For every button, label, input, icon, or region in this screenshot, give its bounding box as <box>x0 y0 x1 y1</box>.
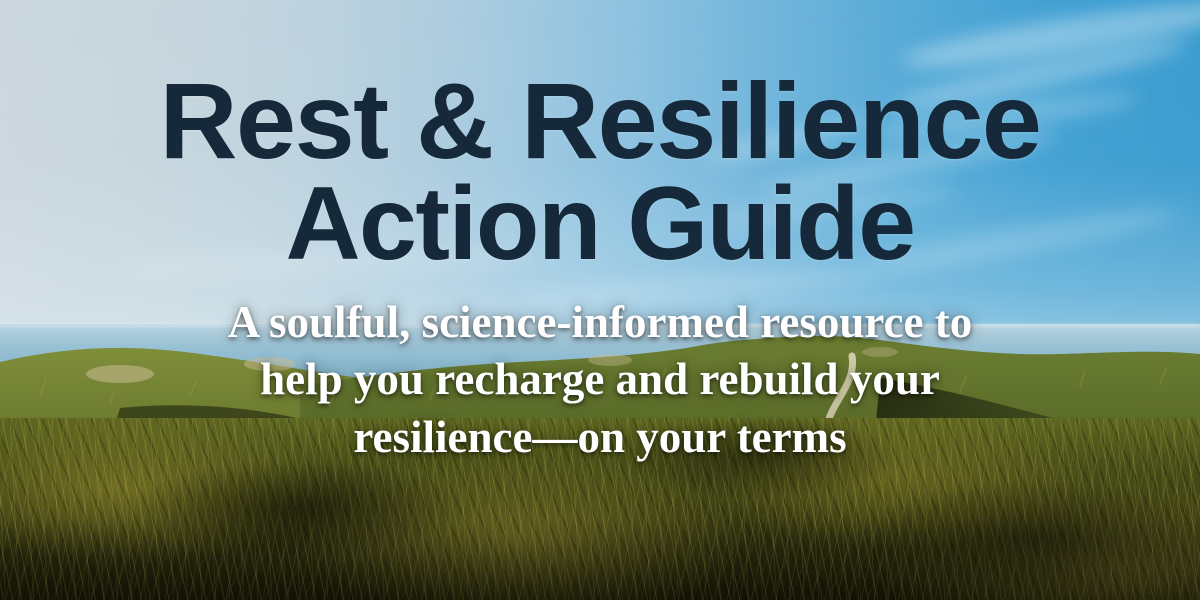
page-subtitle: A soulful, science-informed resource to … <box>75 294 1125 467</box>
subtitle-line-1: A soulful, science-informed resource to <box>75 294 1125 352</box>
subtitle-line-2: help you recharge and rebuild your <box>75 351 1125 409</box>
page-title: Rest & Resilience Action Guide <box>50 0 1150 276</box>
title-line-2: Action Guide <box>50 174 1150 276</box>
subtitle-line-3: resilience—on your terms <box>75 409 1125 467</box>
hero-banner: Rest & Resilience Action Guide A soulful… <box>0 0 1200 600</box>
banner-content: Rest & Resilience Action Guide A soulful… <box>0 0 1200 600</box>
title-line-1: Rest & Resilience <box>50 68 1150 174</box>
